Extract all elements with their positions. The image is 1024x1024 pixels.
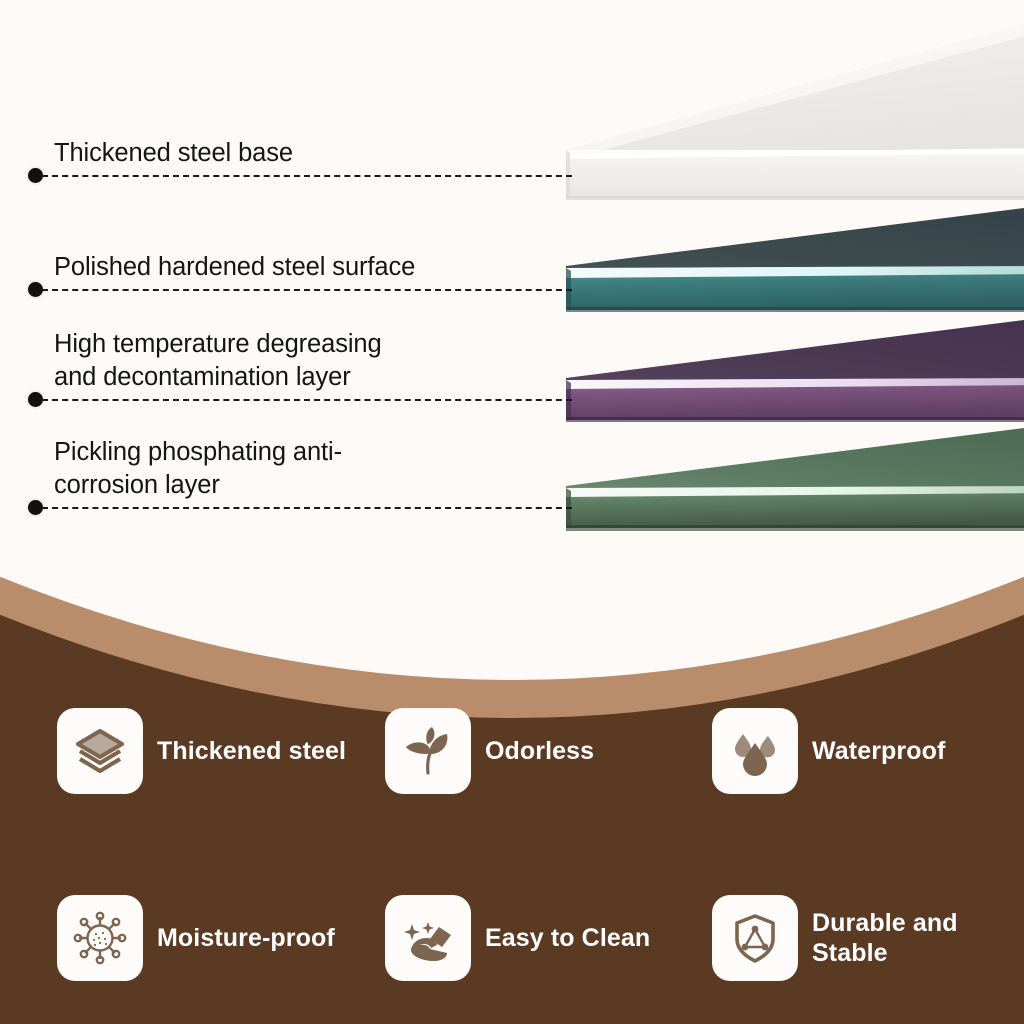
callout-label: Polished hardened steel surface [54,251,574,284]
plate-green [566,426,1024,531]
feature-label: Durable and Stable [812,908,958,968]
feature-waterproof[interactable]: Waterproof [712,708,945,794]
callout-dashed-line [42,507,572,509]
feature-icon-card [57,895,143,981]
feature-icon-card [385,708,471,794]
feature-thickened-steel[interactable]: Thickened steel [57,708,346,794]
callout-label: Thickened steel base [54,137,574,170]
feature-label: Odorless [485,736,594,766]
callout-dot [28,168,43,183]
feature-odorless[interactable]: Odorless [385,708,594,794]
callout-dashed-line [42,289,572,291]
callout-dot [28,500,43,515]
plate-purple [566,318,1024,422]
leaf-icon [401,724,455,778]
feature-easy-to-clean[interactable]: Easy to Clean [385,895,650,981]
feature-icon-card [712,708,798,794]
germ-icon [73,911,127,965]
wipe-hand-icon [401,911,455,965]
layers-icon [73,724,127,778]
water-drops-icon [728,724,782,778]
feature-durable-stable[interactable]: Durable and Stable [712,895,958,981]
shield-node-icon [728,911,782,965]
feature-label: Thickened steel [157,736,346,766]
feature-label: Waterproof [812,736,945,766]
callout-label: High temperature degreasing and decontam… [54,328,574,394]
plate-white [566,20,1024,200]
plate-teal [566,206,1024,312]
feature-icon-card [712,895,798,981]
callout-dashed-line [42,399,572,401]
infographic-canvas: Thickened steel base Polished hardened s… [0,0,1024,1024]
feature-grid: Thickened steel Odorless [0,690,1024,1024]
feature-icon-card [57,708,143,794]
feature-moisture-proof[interactable]: Moisture-proof [57,895,335,981]
callout-dashed-line [42,175,572,177]
feature-icon-card [385,895,471,981]
callout-label: Pickling phosphating anti- corrosion lay… [54,436,574,502]
feature-label: Moisture-proof [157,923,335,953]
callout-dot [28,392,43,407]
callout-dot [28,282,43,297]
feature-label: Easy to Clean [485,923,650,953]
layered-plates-illustration [520,10,1024,550]
